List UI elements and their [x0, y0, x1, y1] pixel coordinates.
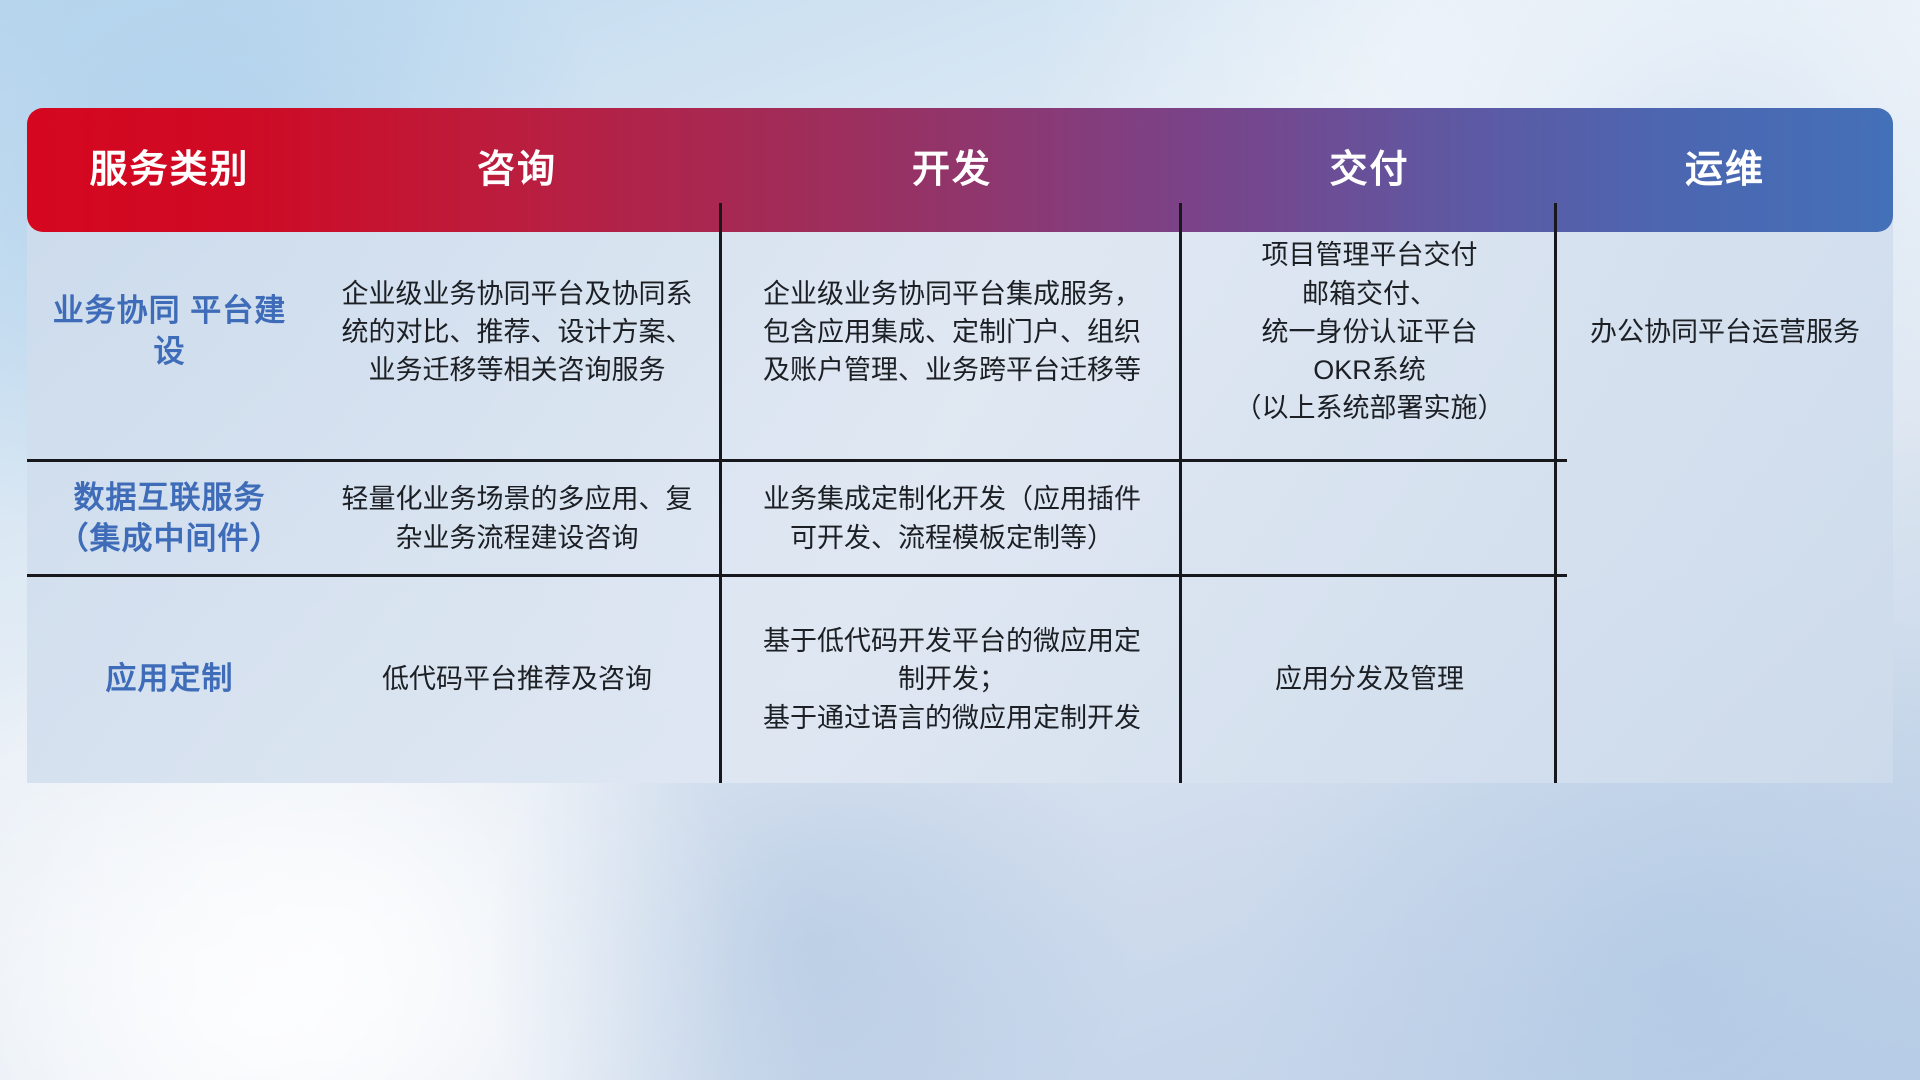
cell-business-collaboration-development: 企业级业务协同平台集成服务， 包含应用集成、定制门户、组织 及账户管理、业务跨平…	[722, 203, 1182, 461]
cell-app-customization-delivery: 应用分发及管理	[1182, 576, 1557, 783]
slide-canvas: 服务类别 咨询 开发 交付 运维 业务协同 平台建设 企业级业务协同平台及协同系…	[0, 0, 1920, 1080]
row-label-data-interconnect: 数据互联服务 （集成中间件）	[27, 461, 312, 576]
header-cell-development: 开发	[722, 151, 1182, 189]
row-label-text: 数据互联服务 （集成中间件）	[41, 478, 298, 560]
header-cell-service-category: 服务类别	[27, 151, 312, 189]
table-row: 业务协同 平台建设 企业级业务协同平台及协同系 统的对比、推荐、设计方案、 业务…	[27, 203, 1893, 461]
table-row: 应用定制 低代码平台推荐及咨询 基于低代码开发平台的微应用定 制开发； 基于通过…	[27, 576, 1893, 783]
row-label-text: 业务协同 平台建设	[41, 291, 298, 373]
header-cell-consulting: 咨询	[312, 151, 722, 189]
cell-app-customization-operations	[1557, 576, 1893, 783]
cell-data-interconnect-delivery	[1182, 461, 1557, 576]
table-body: 业务协同 平台建设 企业级业务协同平台及协同系 统的对比、推荐、设计方案、 业务…	[27, 203, 1893, 783]
cell-text: 企业级业务协同平台集成服务， 包含应用集成、定制门户、组织 及账户管理、业务跨平…	[763, 275, 1141, 390]
cell-business-collaboration-delivery: 项目管理平台交付 邮箱交付、 统一身份认证平台 OKR系统 （以上系统部署实施）	[1182, 203, 1557, 461]
cell-app-customization-development: 基于低代码开发平台的微应用定 制开发； 基于通过语言的微应用定制开发	[722, 576, 1182, 783]
cell-business-collaboration-consulting: 企业级业务协同平台及协同系 统的对比、推荐、设计方案、 业务迁移等相关咨询服务	[312, 203, 722, 461]
cell-text: 应用分发及管理	[1275, 660, 1464, 698]
row-label-app-customization: 应用定制	[27, 576, 312, 783]
cell-text: 轻量化业务场景的多应用、复 杂业务流程建设咨询	[342, 480, 693, 557]
header-cell-operations: 运维	[1557, 151, 1893, 189]
table-row: 数据互联服务 （集成中间件） 轻量化业务场景的多应用、复 杂业务流程建设咨询 业…	[27, 461, 1893, 576]
cell-app-customization-consulting: 低代码平台推荐及咨询	[312, 576, 722, 783]
cell-text: 企业级业务协同平台及协同系 统的对比、推荐、设计方案、 业务迁移等相关咨询服务	[342, 275, 693, 390]
cell-text: 基于低代码开发平台的微应用定 制开发； 基于通过语言的微应用定制开发	[763, 622, 1141, 737]
cell-text: 业务集成定制化开发（应用插件 可开发、流程模板定制等）	[763, 480, 1141, 557]
cell-text: 办公协同平台运营服务	[1590, 313, 1860, 351]
cell-data-interconnect-development: 业务集成定制化开发（应用插件 可开发、流程模板定制等）	[722, 461, 1182, 576]
service-matrix-table: 服务类别 咨询 开发 交付 运维 业务协同 平台建设 企业级业务协同平台及协同系…	[27, 108, 1893, 783]
cell-data-interconnect-consulting: 轻量化业务场景的多应用、复 杂业务流程建设咨询	[312, 461, 722, 576]
cell-text: 项目管理平台交付 邮箱交付、 统一身份认证平台 OKR系统 （以上系统部署实施）	[1235, 236, 1505, 428]
row-label-text: 应用定制	[106, 659, 234, 700]
cell-data-interconnect-operations	[1557, 461, 1893, 576]
cell-business-collaboration-operations: 办公协同平台运营服务	[1557, 203, 1893, 461]
cell-text: 低代码平台推荐及咨询	[382, 660, 652, 698]
row-label-business-collaboration: 业务协同 平台建设	[27, 203, 312, 461]
header-cell-delivery: 交付	[1182, 151, 1557, 189]
